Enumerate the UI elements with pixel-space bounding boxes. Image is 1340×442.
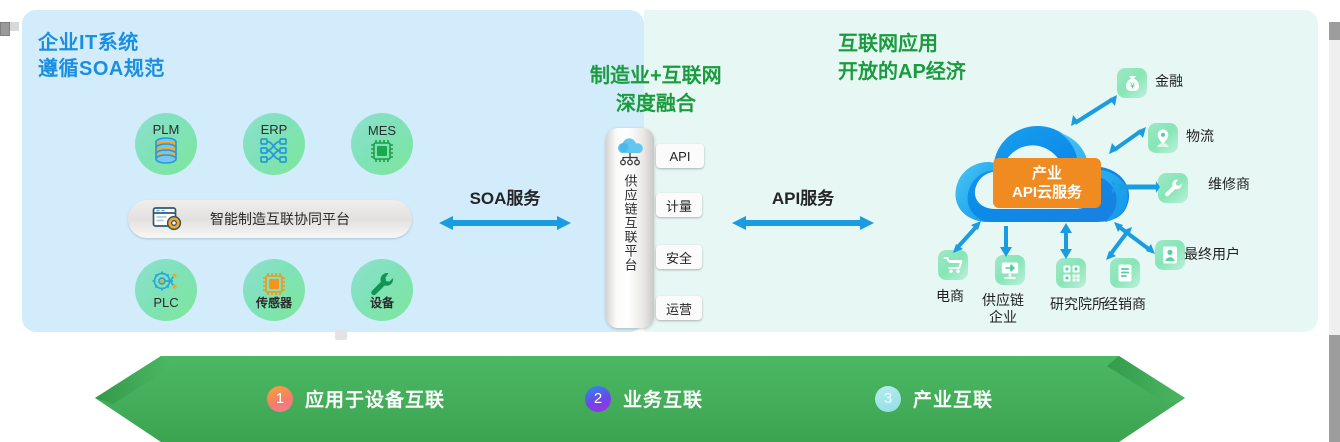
platform-label: 智能制造互联协同平台 — [182, 209, 412, 229]
connector-arrow-repair — [1108, 180, 1160, 194]
tag-metering[interactable]: 计量 — [656, 193, 702, 217]
tag-operations[interactable]: 运营 — [656, 296, 702, 320]
location-pin-icon[interactable] — [1148, 123, 1178, 153]
sensor-chip-icon — [261, 271, 287, 297]
wrench-icon[interactable] — [1158, 173, 1188, 203]
connector-arrow-ecommerce — [945, 218, 987, 258]
scrollbar-track-left[interactable] — [10, 22, 19, 31]
cloud-label-line1: 产业 — [1032, 164, 1062, 183]
right-section-title: 互联网应用 开放的AP经济 — [838, 30, 966, 86]
badge-sensor[interactable]: 传感器 — [243, 259, 305, 321]
ecosystem-label-enduser: 最终用户 — [1184, 246, 1240, 263]
left-section-title: 企业IT系统 遵循SOA规范 — [38, 30, 165, 82]
database-icon — [153, 137, 179, 165]
scrollbar-track-right[interactable] — [1329, 40, 1340, 340]
double-arrow-icon — [718, 213, 888, 233]
badge-device[interactable]: 设备 — [351, 259, 413, 321]
connector-arrow-research — [1056, 222, 1076, 262]
scrollbar-arrow-right[interactable] — [1329, 22, 1340, 40]
industry-api-cloud-label: 产业 API云服务 — [993, 158, 1101, 208]
wrench-icon — [368, 271, 396, 297]
chip-icon — [369, 138, 395, 164]
banner-number-1: 1 — [267, 386, 293, 412]
banner-number-3: 3 — [875, 386, 901, 412]
decorative-shadow-tick — [335, 330, 347, 340]
scrollbar-thumb-right[interactable] — [1329, 335, 1340, 442]
banner-label-1: 应用于设备互联 — [305, 385, 445, 412]
supply-chain-platform-label: 供应链互联平台 — [623, 174, 638, 272]
bottom-banner: 1 应用于设备互联 2 业务互联 3 产业互联 — [95, 352, 1185, 442]
workflow-nodes-icon — [259, 137, 289, 165]
window-gear-icon — [152, 206, 182, 232]
banner-label-2: 业务互联 — [623, 385, 703, 412]
ecosystem-label-dealer: 经销商 — [1104, 296, 1146, 313]
cloud-label-line2: API云服务 — [1012, 183, 1082, 202]
ecosystem-label-repair: 维修商 — [1208, 176, 1250, 193]
api-service-arrow-group: API服务 — [718, 184, 888, 233]
soa-service-label: SOA服务 — [425, 184, 585, 209]
badge-plc[interactable]: PLC — [135, 259, 197, 321]
ecosystem-label-research: 研究院所 — [1050, 296, 1106, 313]
qr-code-icon[interactable] — [1056, 258, 1086, 288]
banner-number-2: 2 — [585, 386, 611, 412]
diagram-canvas: 企业IT系统 遵循SOA规范 制造业+互联网 深度融合 互联网应用 开放的AP经… — [0, 0, 1340, 442]
svg-text:¥: ¥ — [1129, 81, 1134, 90]
ecosystem-label-supplychain: 供应链 企业 — [982, 292, 1024, 326]
badge-device-label: 设备 — [370, 297, 394, 310]
banner-item-2[interactable]: 2 业务互联 — [585, 385, 703, 412]
soa-service-arrow-group: SOA服务 — [425, 184, 585, 233]
smart-manufacturing-platform-bar[interactable]: 智能制造互联协同平台 — [128, 200, 412, 238]
connector-arrow-supplychain — [996, 222, 1016, 260]
badge-plm-label: PLM — [153, 123, 180, 137]
middle-section-title: 制造业+互联网 深度融合 — [590, 62, 722, 118]
supply-chain-platform-column[interactable]: 供应链互联平台 — [606, 128, 654, 328]
ecosystem-label-ecommerce: 电商 — [936, 288, 964, 305]
badge-plm[interactable]: PLM — [135, 113, 197, 175]
badge-mes-label: MES — [368, 124, 396, 138]
api-service-label: API服务 — [718, 184, 888, 209]
ecosystem-label-logistics: 物流 — [1186, 128, 1214, 145]
badge-sensor-label: 传感器 — [256, 297, 292, 310]
connector-arrow-dealer — [1098, 225, 1138, 263]
double-arrow-icon — [425, 213, 585, 233]
banner-item-3[interactable]: 3 产业互联 — [875, 385, 993, 412]
badge-plc-label: PLC — [153, 296, 178, 310]
badge-erp-label: ERP — [261, 123, 288, 137]
scrollbar-fragment-left[interactable] — [0, 22, 10, 36]
gear-network-icon — [151, 270, 181, 296]
banner-label-3: 产业互联 — [913, 385, 993, 412]
tag-security[interactable]: 安全 — [656, 245, 702, 269]
banner-item-1[interactable]: 1 应用于设备互联 — [267, 385, 445, 412]
ecosystem-label-finance: 金融 — [1155, 73, 1183, 90]
cloud-network-icon — [613, 137, 647, 172]
tag-api[interactable]: API — [656, 144, 704, 168]
badge-erp[interactable]: ERP — [243, 113, 305, 175]
connector-arrow-logistics — [1105, 122, 1151, 158]
badge-mes[interactable]: MES — [351, 113, 413, 175]
